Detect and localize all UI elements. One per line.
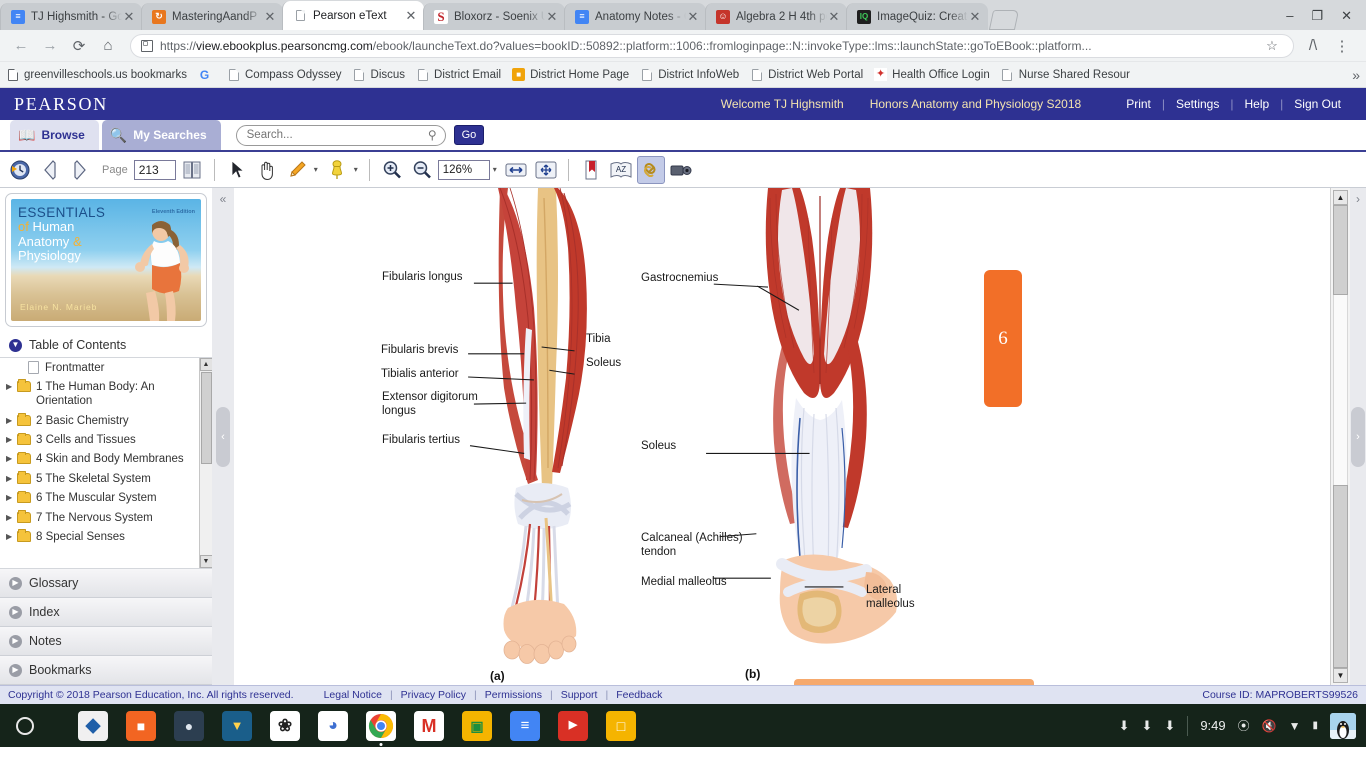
bookmark-item[interactable]: ■ District Home Page bbox=[512, 68, 629, 81]
bookmark-label: Discus bbox=[371, 69, 406, 81]
bookmark-item[interactable]: G bbox=[198, 68, 216, 81]
divider: | bbox=[550, 689, 553, 701]
sidebar-item-label: Notes bbox=[29, 634, 62, 648]
bookmark-item[interactable]: greenvilleschools.us bookmarks bbox=[6, 68, 187, 81]
label-gastrocnemius: Gastrocnemius bbox=[641, 272, 718, 286]
chevron-right-icon[interactable]: ▶ bbox=[6, 380, 17, 392]
zoom-out-icon[interactable] bbox=[408, 156, 436, 184]
document-icon bbox=[28, 361, 39, 374]
orange-site-icon: ■ bbox=[512, 68, 525, 81]
table-of-contents-list[interactable]: Frontmatter ▶ 1 The Human Body: An Orien… bbox=[0, 358, 212, 569]
chevron-right-icon[interactable]: ▶ bbox=[6, 452, 17, 464]
bookmark-label: Nurse Shared Resour bbox=[1019, 69, 1130, 81]
book-icon: 📖 bbox=[18, 128, 35, 142]
forward-icon[interactable]: → bbox=[37, 33, 63, 59]
url-text: https://view.ebookplus.pearsoncmg.com/eb… bbox=[160, 39, 1261, 53]
prev-page-icon[interactable] bbox=[36, 156, 64, 184]
battery-icon[interactable]: ▮ bbox=[1312, 720, 1318, 731]
close-icon[interactable]: ✕ bbox=[968, 10, 982, 23]
close-icon[interactable]: ✕ bbox=[827, 10, 841, 23]
chevron-down-icon[interactable]: ▼ bbox=[9, 339, 22, 352]
launcher-circle-icon[interactable] bbox=[16, 717, 34, 735]
wifi-icon[interactable]: ▼ bbox=[1289, 719, 1301, 733]
cover-text: ESSENTIALS of Human Anatomy & Physiology bbox=[18, 205, 105, 264]
bookmark-star-icon[interactable]: ☆ bbox=[1261, 38, 1283, 54]
sidebar-item-label: Glossary bbox=[29, 576, 78, 590]
chevron-right-icon[interactable]: ▶ bbox=[6, 472, 17, 484]
cover-runner-illustration bbox=[121, 217, 195, 321]
new-tab-button[interactable] bbox=[989, 10, 1019, 30]
toc-item-chapter-3[interactable]: ▶ 3 Cells and Tissues bbox=[0, 431, 212, 450]
legal-notice-link[interactable]: Legal Notice bbox=[324, 689, 382, 701]
toc-item-chapter-2[interactable]: ▶ 2 Basic Chemistry bbox=[0, 411, 212, 430]
chevron-right-icon[interactable]: ▶ bbox=[6, 414, 17, 426]
header-links: Welcome TJ Highsmith Honors Anatomy and … bbox=[721, 97, 1352, 111]
bookmark-item[interactable]: District Email bbox=[416, 68, 501, 81]
toc-item-chapter-5[interactable]: ▶ 5 The Skeletal System bbox=[0, 469, 212, 488]
page-icon bbox=[1001, 68, 1014, 81]
bookmark-label: Health Office Login bbox=[892, 69, 990, 81]
scroll-up-icon[interactable]: ▲ bbox=[200, 358, 213, 371]
chrome-app-icon[interactable] bbox=[366, 711, 396, 741]
page-scrollbar[interactable]: ▲ ▼ bbox=[1330, 188, 1350, 685]
tab-title: Algebra 2 H 4th peri bbox=[736, 11, 827, 23]
close-icon[interactable]: ✕ bbox=[122, 10, 136, 23]
page-label: Page bbox=[102, 164, 128, 176]
reader-toolbar: Page ▾ ▾ 126% ▾ AZ bbox=[0, 152, 1366, 188]
label-soleus-posterior: Soleus bbox=[641, 440, 676, 454]
scroll-up-icon[interactable]: ▲ bbox=[1333, 190, 1348, 205]
browser-tab[interactable]: ≡ TJ Highsmith - Goog ✕ bbox=[0, 3, 142, 30]
browser-tab-active[interactable]: Pearson eText ✕ bbox=[282, 1, 424, 30]
chrome-menu-icon[interactable]: ⋮ bbox=[1329, 33, 1355, 59]
files-app-icon[interactable]: □ bbox=[606, 711, 636, 741]
lightbulb-app-icon[interactable]: ▼ bbox=[222, 711, 252, 741]
toc-item-label: 6 The Muscular System bbox=[36, 491, 157, 505]
scroll-down-icon[interactable]: ▼ bbox=[1333, 668, 1348, 683]
sign-out-link[interactable]: Sign Out bbox=[1283, 97, 1352, 111]
cover-author: Elaine N. Marieb bbox=[20, 302, 97, 312]
bookmark-label: greenvilleschools.us bookmarks bbox=[24, 69, 187, 81]
shelf-status-area: ⬇ ⬇ ⬇ 9:49 ⦿ 🔇 ▼ ▮ bbox=[1119, 713, 1366, 739]
mute-icon[interactable]: 🔇 bbox=[1262, 719, 1277, 733]
imagequiz-icon: IQ bbox=[857, 10, 871, 24]
tab-title: Pearson eText bbox=[313, 10, 404, 22]
highlighter-icon[interactable] bbox=[283, 156, 311, 184]
pointer-icon[interactable] bbox=[223, 156, 251, 184]
bookmarks-overflow-icon[interactable]: » bbox=[1352, 67, 1360, 83]
tab-title: Anatomy Notes - Go bbox=[595, 11, 686, 23]
cover-line-1: ESSENTIALS bbox=[18, 205, 105, 220]
page-accent-bar bbox=[794, 679, 1034, 685]
close-icon[interactable]: ✕ bbox=[545, 10, 559, 23]
divider: | bbox=[390, 689, 393, 701]
help-link[interactable]: Help bbox=[1233, 97, 1280, 111]
soenix-icon: S bbox=[434, 10, 448, 24]
toc-item-label: 1 The Human Body: An Orientation bbox=[36, 380, 196, 409]
sidebar-resize-handle[interactable]: ‹ bbox=[216, 407, 230, 467]
book-cover-image: ESSENTIALS of Human Anatomy & Physiology… bbox=[11, 199, 201, 321]
divider bbox=[214, 159, 215, 181]
page-icon bbox=[640, 68, 653, 81]
google-classroom-app-icon[interactable]: ▣ bbox=[462, 711, 492, 741]
zoom-level-value[interactable]: 126% bbox=[438, 160, 490, 180]
scroll-track[interactable] bbox=[1333, 205, 1348, 668]
download-icon[interactable]: ⬇ bbox=[1142, 718, 1153, 734]
bookmark-item[interactable]: Discus bbox=[353, 68, 406, 81]
chevron-right-icon[interactable]: ▶ bbox=[6, 491, 17, 503]
lastpass-app-icon[interactable]: ◆ bbox=[78, 711, 108, 741]
toc-item-label: 2 Basic Chemistry bbox=[36, 414, 129, 428]
zoom-in-icon[interactable] bbox=[378, 156, 406, 184]
browser-omnibox-bar: ← → ⟳ ⌂ https://view.ebookplus.pearsoncm… bbox=[0, 30, 1366, 62]
toc-item-label: 7 The Nervous System bbox=[36, 511, 153, 525]
cover-edition: Eleventh Edition bbox=[152, 209, 195, 215]
site-info-icon[interactable] bbox=[141, 40, 153, 52]
toc-item-label: 4 Skin and Body Membranes bbox=[36, 452, 184, 466]
google-docs-app-icon[interactable]: ≡ bbox=[510, 711, 540, 741]
panel-letter-a: (a) bbox=[490, 669, 505, 683]
divider bbox=[1187, 716, 1188, 736]
toc-item-label: Frontmatter bbox=[45, 361, 104, 375]
collapse-sidebar-icon[interactable]: « bbox=[220, 192, 227, 206]
tab-title: ImageQuiz: Create n bbox=[877, 11, 968, 23]
divider: | bbox=[605, 689, 608, 701]
tab-browse-label: Browse bbox=[41, 128, 84, 142]
ebook-page-view[interactable]: Fibularis longus Fibularis brevis Tibial… bbox=[234, 188, 1330, 685]
bookmark-label: Compass Odyssey bbox=[245, 69, 342, 81]
right-panel-collapse-column[interactable]: › › bbox=[1350, 188, 1366, 685]
tab-my-searches-label: My Searches bbox=[133, 128, 206, 142]
media-icon[interactable] bbox=[667, 156, 695, 184]
label-tibialis-anterior: Tibialis anterior bbox=[381, 368, 459, 382]
link-icon[interactable] bbox=[637, 156, 665, 184]
folder-icon bbox=[17, 531, 31, 542]
chevron-down-icon[interactable]: ▾ bbox=[314, 165, 318, 174]
scroll-thumb-top[interactable] bbox=[1333, 205, 1348, 295]
folder-icon bbox=[17, 415, 31, 426]
scroll-down-icon[interactable]: ▼ bbox=[200, 555, 213, 568]
hand-icon[interactable] bbox=[253, 156, 281, 184]
label-fibularis-tertius: Fibularis tertius bbox=[382, 434, 460, 448]
toc-item-chapter-6[interactable]: ▶ 6 The Muscular System bbox=[0, 489, 212, 508]
tree-app-icon[interactable]: ❀ bbox=[270, 711, 300, 741]
label-fibularis-longus: Fibularis longus bbox=[382, 271, 463, 285]
reader-workspace: ESSENTIALS of Human Anatomy & Physiology… bbox=[0, 188, 1366, 685]
two-page-view-icon[interactable] bbox=[178, 156, 206, 184]
zoo-app-icon[interactable]: ● bbox=[174, 711, 204, 741]
divider bbox=[369, 159, 370, 181]
search-input[interactable] bbox=[245, 128, 428, 142]
tab-title: MasteringAandP bbox=[172, 11, 263, 23]
chevron-right-icon: ▶ bbox=[9, 664, 22, 677]
penguin-avatar[interactable] bbox=[1330, 713, 1356, 739]
sidebar-item-label: Bookmarks bbox=[29, 663, 92, 677]
os-shelf: ◆ ■ ● ▼ ❀ ◕ M ▣ ≡ ▶ □ ⬇ ⬇ ⬇ 9:49 ⦿ 🔇 ▼ ▮ bbox=[0, 704, 1366, 747]
toc-scrollbar[interactable]: ▲ ▼ bbox=[199, 358, 212, 568]
toc-item-label: 8 Special Senses bbox=[36, 530, 125, 544]
chevron-right-icon: ▶ bbox=[9, 635, 22, 648]
close-icon[interactable]: ✕ bbox=[404, 9, 418, 22]
youtube-app-icon[interactable]: ▶ bbox=[558, 711, 588, 741]
chevron-down-icon[interactable]: ▾ bbox=[354, 165, 358, 174]
feedback-link[interactable]: Feedback bbox=[616, 689, 662, 701]
folder-icon bbox=[17, 453, 31, 464]
bookmark-item[interactable]: District Web Portal bbox=[750, 68, 863, 81]
folder-icon bbox=[17, 434, 31, 445]
bookmark-item[interactable]: Nurse Shared Resour bbox=[1001, 68, 1130, 81]
pearson-tab-row: 📖 Browse 🔍 My Searches ⚲ Go bbox=[0, 120, 1366, 152]
sidebar-item-index[interactable]: ▶ Index bbox=[0, 598, 212, 627]
settings-link[interactable]: Settings bbox=[1165, 97, 1230, 111]
bookmarks-bar: greenvilleschools.us bookmarks G Compass… bbox=[0, 62, 1366, 88]
toc-item-chapter-8[interactable]: ▶ 8 Special Senses bbox=[0, 527, 212, 546]
page-icon bbox=[227, 68, 240, 81]
bookmark-label: District Home Page bbox=[530, 69, 629, 81]
red-site-icon: ✦ bbox=[874, 68, 887, 81]
scroll-gap[interactable] bbox=[1333, 295, 1348, 485]
course-id-text: Course ID: MAPROBERTS99526 bbox=[1202, 689, 1358, 701]
chevron-right-icon: ▶ bbox=[9, 606, 22, 619]
label-lateral-malleolus: Lateral malleolus bbox=[866, 584, 915, 611]
label-medial-malleolus: Medial malleolus bbox=[641, 576, 727, 590]
close-icon[interactable]: ✕ bbox=[686, 10, 700, 23]
back-icon[interactable]: ← bbox=[8, 33, 34, 59]
download-icon[interactable]: ⬇ bbox=[1164, 718, 1175, 734]
expand-panel-icon[interactable]: › bbox=[1356, 192, 1360, 206]
folder-site-icon bbox=[6, 68, 19, 81]
fit-width-icon[interactable] bbox=[502, 156, 530, 184]
bookmark-item[interactable]: ✦ Health Office Login bbox=[874, 68, 990, 81]
chevron-down-icon[interactable]: ▾ bbox=[493, 165, 497, 174]
tab-my-searches[interactable]: 🔍 My Searches bbox=[102, 120, 221, 150]
pushpin-icon[interactable] bbox=[323, 156, 351, 184]
sidebar-collapse-column[interactable]: « ‹ bbox=[212, 188, 234, 685]
divider: | bbox=[474, 689, 477, 701]
bookmark-icon[interactable] bbox=[577, 156, 605, 184]
bookmark-label: District Web Portal bbox=[768, 69, 863, 81]
search-input-wrapper[interactable]: ⚲ bbox=[236, 125, 446, 146]
close-icon[interactable]: ✕ bbox=[263, 10, 277, 23]
folder-icon bbox=[17, 512, 31, 523]
chevron-right-icon: ▶ bbox=[9, 577, 22, 590]
bookmark-item[interactable]: District InfoWeb bbox=[640, 68, 739, 81]
pearson-footer: Copyright © 2018 Pearson Education, Inc.… bbox=[0, 685, 1366, 704]
toc-item-chapter-4[interactable]: ▶ 4 Skin and Body Membranes bbox=[0, 450, 212, 469]
power-icon[interactable]: ⦿ bbox=[1238, 717, 1250, 734]
reader-mode-icon[interactable]: /\ bbox=[1300, 33, 1326, 59]
toc-item-label: 3 Cells and Tissues bbox=[36, 433, 136, 447]
folder-icon bbox=[17, 381, 31, 392]
magnifier-icon: 🔍 bbox=[110, 128, 127, 142]
shelf-app-list: ◆ ■ ● ▼ ❀ ◕ M ▣ ≡ ▶ □ bbox=[78, 711, 636, 741]
scroll-thumb[interactable] bbox=[201, 372, 212, 464]
browser-tab[interactable]: ↻ MasteringAandP ✕ bbox=[141, 3, 283, 30]
fit-page-icon[interactable] bbox=[532, 156, 560, 184]
toc-item-frontmatter[interactable]: Frontmatter bbox=[0, 358, 212, 377]
page-icon bbox=[353, 68, 366, 81]
sidebar-item-notes[interactable]: ▶ Notes bbox=[0, 627, 212, 656]
sidebar-item-bookmarks[interactable]: ▶ Bookmarks bbox=[0, 656, 212, 685]
cover-line-3: Anatomy & bbox=[18, 235, 105, 250]
welcome-text: Welcome TJ Highsmith bbox=[721, 97, 844, 111]
page-number-input[interactable] bbox=[134, 160, 176, 180]
quizlet-app-icon[interactable]: ■ bbox=[126, 711, 156, 741]
google-docs-icon: ≡ bbox=[575, 10, 589, 24]
chevron-right-icon[interactable]: ▶ bbox=[6, 511, 17, 523]
toc-item-chapter-1[interactable]: ▶ 1 The Human Body: An Orientation bbox=[0, 377, 212, 411]
browser-tab[interactable]: IQ ImageQuiz: Create n ✕ bbox=[846, 3, 988, 30]
page-icon bbox=[750, 68, 763, 81]
maximize-icon[interactable]: ❐ bbox=[1311, 9, 1323, 22]
sidebar-item-glossary[interactable]: ▶ Glossary bbox=[0, 569, 212, 598]
right-panel-resize-handle[interactable]: › bbox=[1351, 407, 1365, 467]
panel-letter-b: (b) bbox=[745, 667, 760, 681]
left-sidebar: ESSENTIALS of Human Anatomy & Physiology… bbox=[0, 188, 212, 685]
label-soleus-anterior: Soleus bbox=[586, 357, 621, 371]
close-window-icon[interactable]: ✕ bbox=[1341, 9, 1352, 22]
label-fibularis-brevis: Fibularis brevis bbox=[381, 344, 458, 358]
browser-tab[interactable]: ≡ Anatomy Notes - Go ✕ bbox=[564, 3, 706, 30]
search-icon[interactable]: ⚲ bbox=[428, 128, 437, 142]
divider bbox=[568, 159, 569, 181]
toc-item-chapter-7[interactable]: ▶ 7 The Nervous System bbox=[0, 508, 212, 527]
address-bar[interactable]: https://view.ebookplus.pearsoncmg.com/eb… bbox=[130, 34, 1294, 58]
tab-title: Bloxorz - Soenix U bbox=[454, 11, 545, 23]
gmail-app-icon[interactable]: M bbox=[414, 711, 444, 741]
chapter-number-tab: 6 bbox=[984, 270, 1022, 407]
svg-text:AZ: AZ bbox=[616, 165, 626, 174]
chevron-right-icon[interactable]: ▶ bbox=[6, 530, 17, 542]
label-calcaneal-achilles-tendon: Calcaneal (Achilles) tendon bbox=[641, 532, 743, 559]
clock[interactable]: 9:49 bbox=[1200, 718, 1225, 733]
page-icon bbox=[416, 68, 429, 81]
minimize-icon[interactable]: – bbox=[1286, 9, 1293, 22]
next-page-icon[interactable] bbox=[66, 156, 94, 184]
anatomy-figure: Fibularis longus Fibularis brevis Tibial… bbox=[234, 188, 1330, 685]
course-name: Honors Anatomy and Physiology S2018 bbox=[870, 97, 1081, 111]
go-button[interactable]: Go bbox=[454, 125, 485, 145]
table-of-contents-header[interactable]: ▼ Table of Contents bbox=[0, 333, 212, 358]
print-link[interactable]: Print bbox=[1115, 97, 1162, 111]
mastering-icon: ↻ bbox=[152, 10, 166, 24]
reload-icon[interactable]: ⟳ bbox=[66, 33, 92, 59]
scroll-thumb-bottom[interactable] bbox=[1333, 485, 1348, 668]
toc-item-label: 5 The Skeletal System bbox=[36, 472, 151, 486]
chevron-right-icon[interactable]: ▶ bbox=[6, 433, 17, 445]
browser-tab-strip: ≡ TJ Highsmith - Goog ✕ ↻ MasteringAandP… bbox=[0, 0, 1366, 30]
spacer bbox=[6, 361, 17, 363]
support-link[interactable]: Support bbox=[561, 689, 598, 701]
pearson-logo: PEARSON bbox=[14, 94, 108, 115]
google-g-icon: G bbox=[198, 68, 211, 81]
label-extensor-digitorum-longus: Extensor digitorum longus bbox=[382, 391, 478, 418]
privacy-policy-link[interactable]: Privacy Policy bbox=[401, 689, 466, 701]
ghost-app-icon[interactable]: ◕ bbox=[318, 711, 348, 741]
sidebar-item-label: Index bbox=[29, 605, 60, 619]
browser-tab[interactable]: ☺ Algebra 2 H 4th peri ✕ bbox=[705, 3, 847, 30]
browser-tab[interactable]: S Bloxorz - Soenix U ✕ bbox=[423, 3, 565, 30]
tab-browse[interactable]: 📖 Browse bbox=[10, 120, 99, 150]
home-icon[interactable]: ⌂ bbox=[95, 33, 121, 59]
search-area: ⚲ Go bbox=[236, 125, 485, 146]
tab-title: TJ Highsmith - Goog bbox=[31, 11, 122, 23]
download-icon[interactable]: ⬇ bbox=[1119, 718, 1130, 734]
bookmark-label: District InfoWeb bbox=[658, 69, 739, 81]
history-clock-icon[interactable] bbox=[6, 156, 34, 184]
book-cover-card[interactable]: ESSENTIALS of Human Anatomy & Physiology… bbox=[5, 193, 207, 327]
cover-line-2: of Human bbox=[18, 220, 105, 235]
google-docs-icon: ≡ bbox=[11, 10, 25, 24]
toc-header-label: Table of Contents bbox=[29, 338, 126, 352]
label-tibia: Tibia bbox=[586, 333, 611, 347]
glossary-az-icon[interactable]: AZ bbox=[607, 156, 635, 184]
bookmark-label: District Email bbox=[434, 69, 501, 81]
folder-icon bbox=[17, 473, 31, 484]
folder-icon bbox=[17, 492, 31, 503]
window-controls: – ❐ ✕ bbox=[1262, 0, 1366, 30]
permissions-link[interactable]: Permissions bbox=[485, 689, 542, 701]
copyright-text: Copyright © 2018 Pearson Education, Inc.… bbox=[8, 689, 294, 701]
classroom-icon: ☺ bbox=[716, 10, 730, 24]
cover-line-4: Physiology bbox=[18, 249, 105, 264]
pearson-header: PEARSON Welcome TJ Highsmith Honors Anat… bbox=[0, 88, 1366, 120]
bookmark-item[interactable]: Compass Odyssey bbox=[227, 68, 342, 81]
page-icon bbox=[293, 9, 307, 23]
